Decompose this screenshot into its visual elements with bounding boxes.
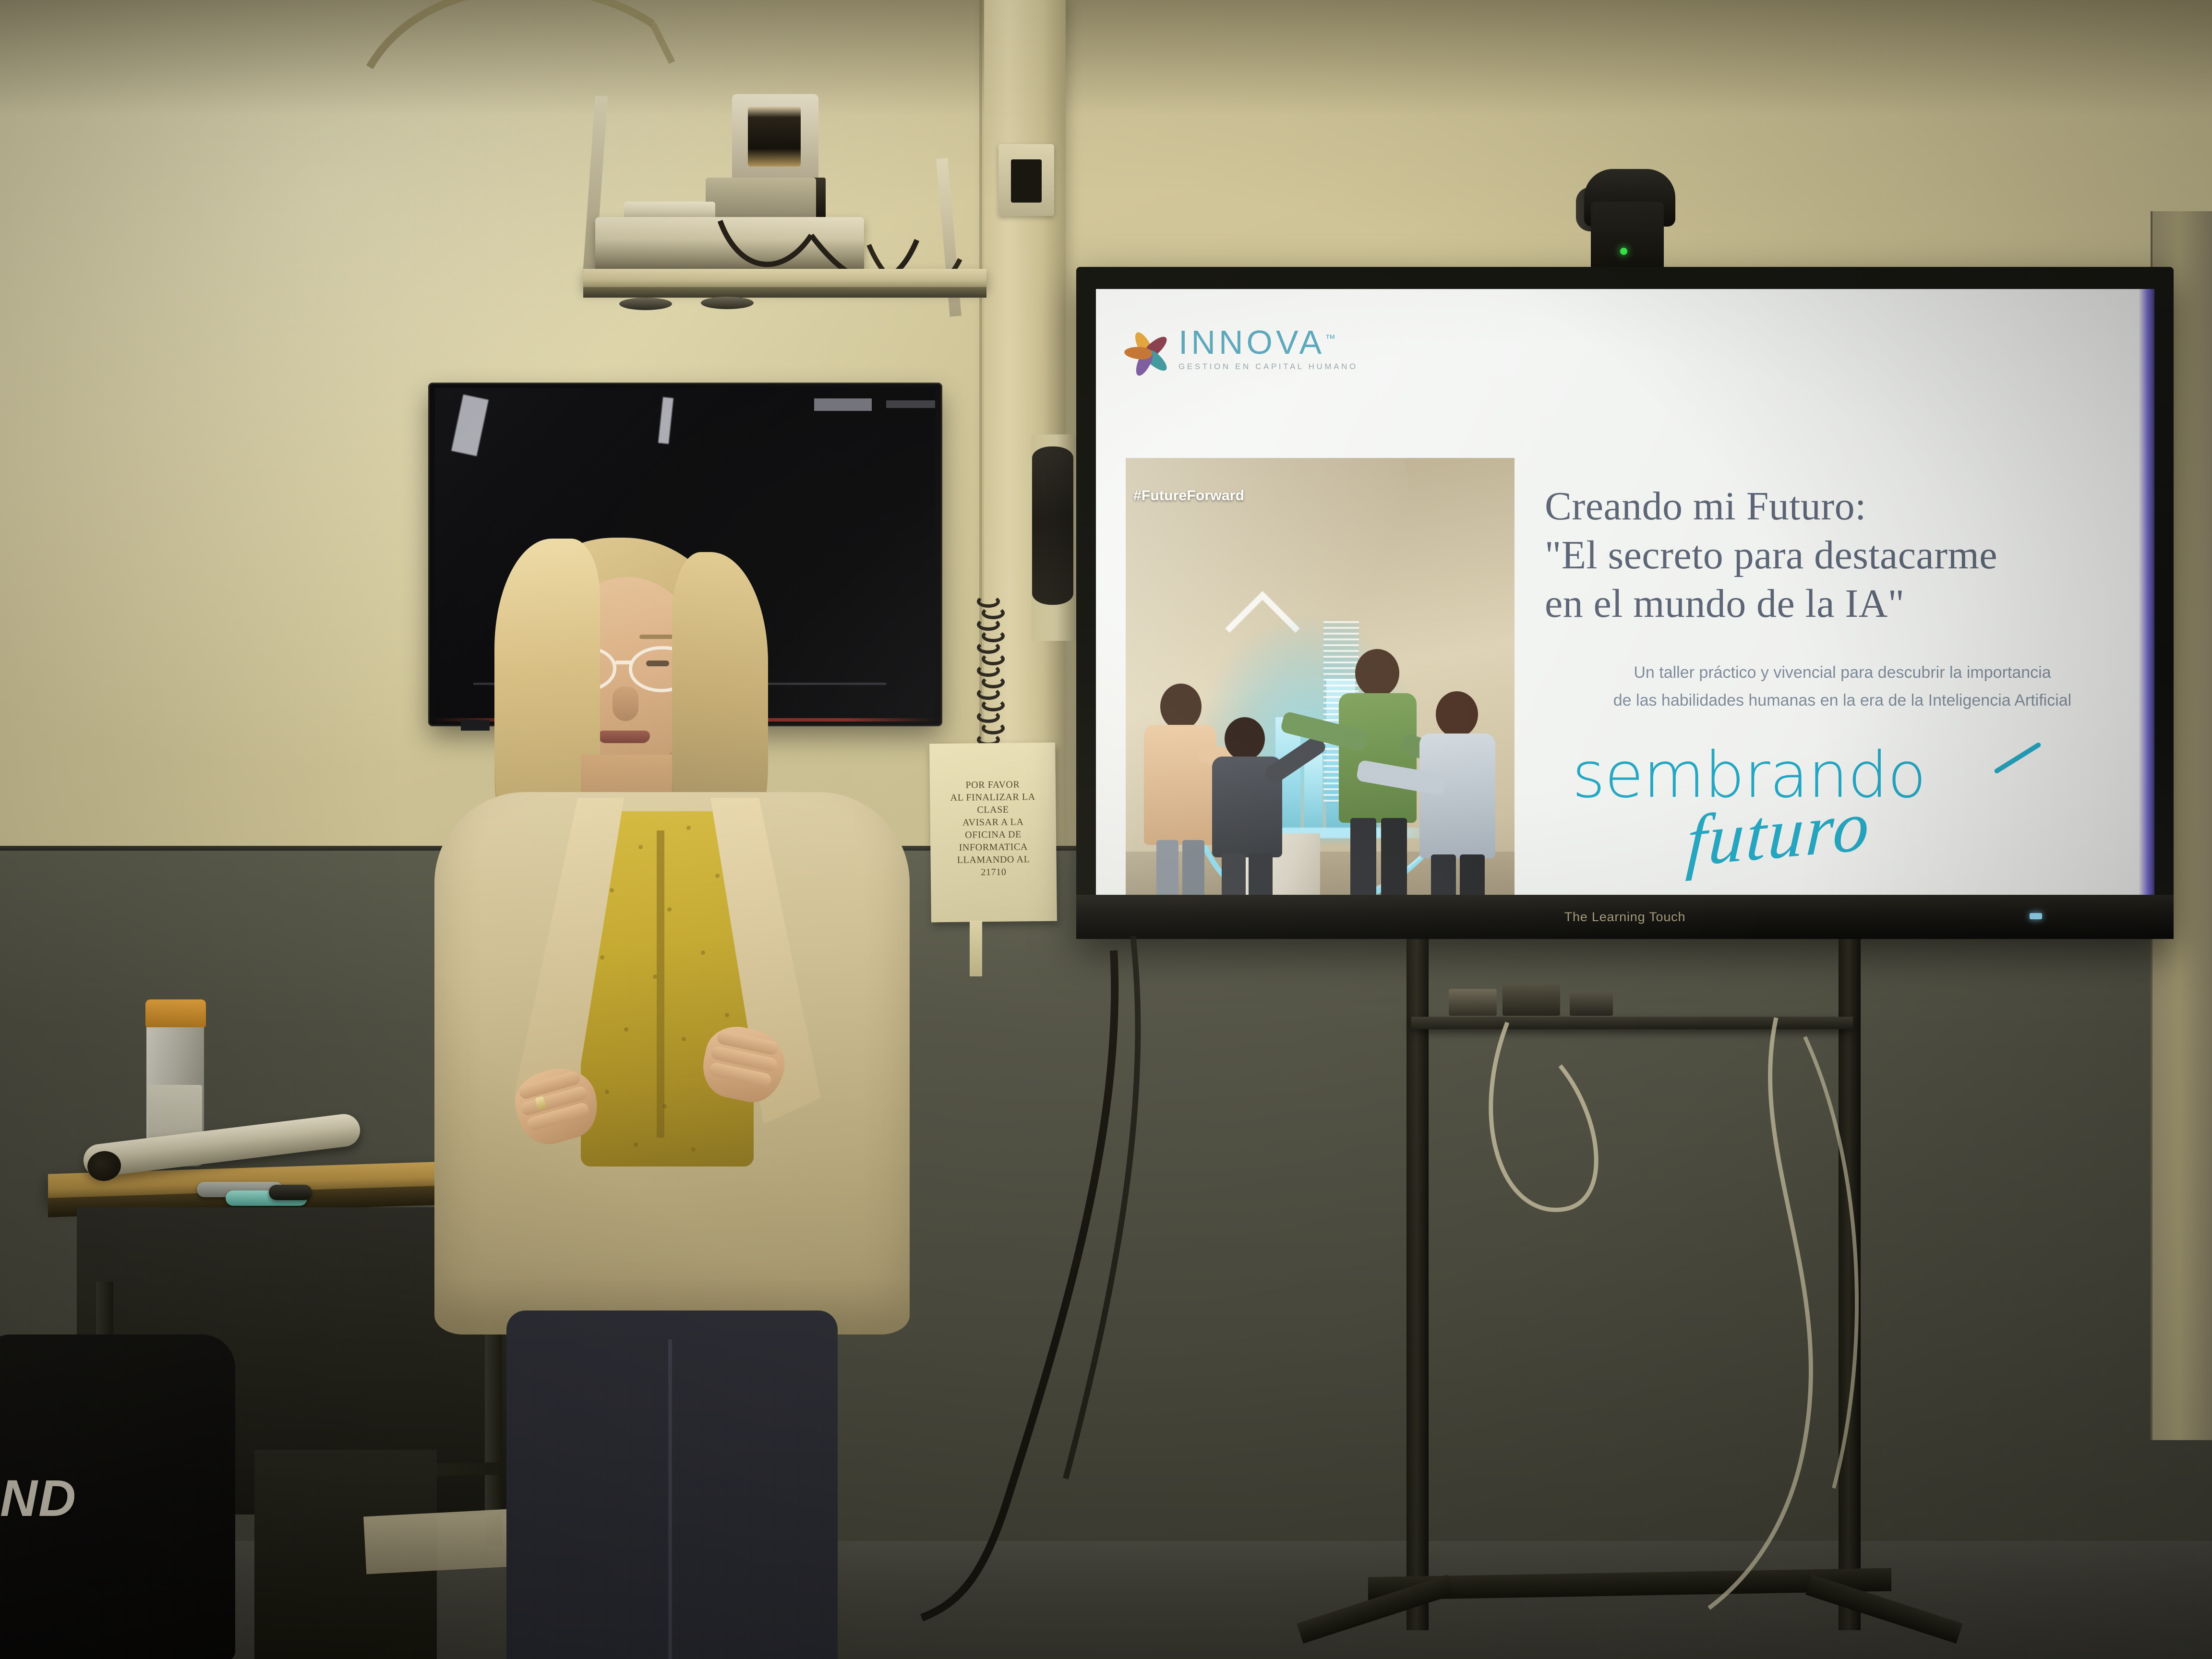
sign-line: AL FINALIZAR LA: [935, 791, 1051, 805]
slide-title-line: en el mundo de la IA": [1545, 579, 2140, 628]
wall-notice-sign: POR FAVOR AL FINALIZAR LA CLASE AVISAR A…: [929, 743, 1057, 923]
classroom-photo-scene: POR FAVOR AL FINALIZAR LA CLASE AVISAR A…: [0, 0, 2212, 1659]
sign-line: LLAMANDO AL: [935, 853, 1051, 867]
display-power-cables: [1440, 1008, 1968, 1659]
innova-wordmark: INNOVA™: [1178, 326, 1358, 359]
interactive-display-screen[interactable]: INNOVA™ GESTION EN CAPITAL HUMANO #Futur…: [1096, 289, 2154, 895]
hashtag-label: #FutureForward: [1133, 488, 1244, 504]
slide-subtitle-line: Un taller práctico y vivencial para desc…: [1547, 659, 2138, 686]
projector-camera-window: [748, 107, 801, 167]
wall-phone-handset[interactable]: [1032, 446, 1073, 605]
blouse-placket: [657, 830, 664, 1138]
slide-title-line: Creando mi Futuro:: [1545, 482, 2140, 531]
futuro-script-wordmark: futuro: [1684, 783, 1873, 883]
sign-line: OFICINA DE: [935, 828, 1051, 842]
innova-logo: INNOVA™ GESTION EN CAPITAL HUMANO: [1126, 326, 1358, 372]
innova-petal-icon: [1126, 327, 1170, 371]
eyeglass-bridge: [615, 661, 632, 664]
wall-outlet-slot: [1011, 159, 1042, 203]
sign-line: 21710: [936, 866, 1052, 879]
ptz-camera-status-led: [1620, 248, 1627, 255]
water-bottle-cap[interactable]: [145, 999, 206, 1027]
slide-subtitle-line: de las habilidades humanas en la era de …: [1547, 686, 2138, 714]
display-brand-label: The Learning Touch: [1564, 910, 1686, 925]
slide-title-line: "El secreto para destacarme: [1545, 531, 2140, 580]
sign-line: CLASE: [935, 803, 1051, 817]
phone-coiled-cord: [977, 595, 1039, 758]
ptz-camera-body: [1591, 202, 1664, 274]
backpack-brand-text: ND: [0, 1468, 77, 1528]
slide-figure: [1208, 717, 1295, 895]
whiteboard-marker-cap[interactable]: [269, 1185, 312, 1200]
sembrando-slash-stroke: [1994, 742, 2042, 774]
ceiling-conduit: [365, 0, 701, 86]
display-power-led: [2030, 913, 2042, 919]
eyebrow: [639, 635, 676, 639]
innova-tagline: GESTION EN CAPITAL HUMANO: [1178, 362, 1358, 372]
trademark-symbol: ™: [1325, 333, 1335, 345]
slide-subtitle: Un taller práctico y vivencial para desc…: [1547, 659, 2138, 715]
shelf-mount-bolt: [619, 298, 672, 310]
sembrando-futuro-logo: sembrando futuro: [1566, 735, 2085, 879]
trouser-seam: [668, 1339, 672, 1659]
slide-title: Creando mi Futuro: "El secreto para dest…: [1545, 482, 2140, 628]
mouth: [598, 731, 650, 743]
sign-line: INFORMATICA: [935, 841, 1051, 854]
presentation-slide: INNOVA™ GESTION EN CAPITAL HUMANO #Futur…: [1096, 289, 2154, 895]
projector-shelf: [583, 269, 986, 289]
shelf-mount-bolt: [701, 297, 754, 309]
projector-cables: [710, 206, 1008, 326]
sign-line: POR FAVOR: [935, 778, 1051, 792]
sign-line: AVISAR A LA: [935, 816, 1051, 829]
slide-photo-panel: #FutureForward: [1126, 458, 1515, 895]
presenter: [422, 523, 917, 1659]
presenter-trousers: [506, 1310, 838, 1659]
slide-figure: [1413, 691, 1507, 895]
projector-shelf-underside: [583, 287, 986, 298]
